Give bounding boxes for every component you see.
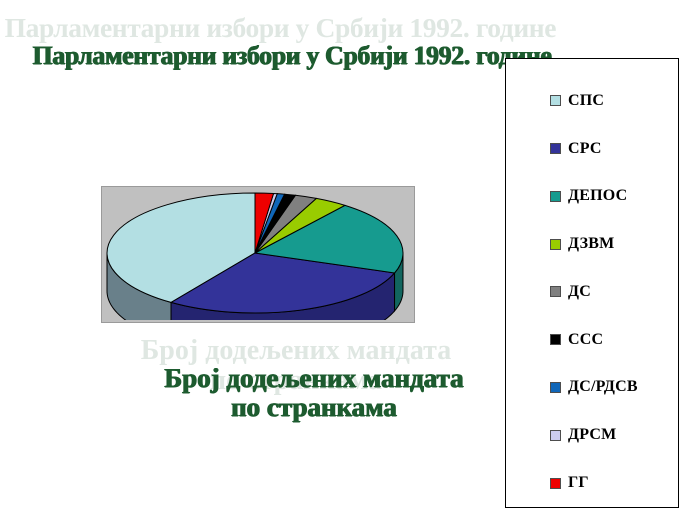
legend-color-swatch <box>550 143 561 154</box>
legend-item-label: СПС <box>568 92 604 110</box>
chart-caption-text: Број додељених мандата по странкама <box>104 364 524 422</box>
legend-item[interactable]: ДЗВМ <box>506 227 678 261</box>
legend-item[interactable]: ДЕПОС <box>506 179 678 213</box>
legend-color-swatch <box>550 239 561 250</box>
chart-caption: Број додељених мандата по странкама Број… <box>90 336 510 456</box>
legend-item-label: ГГ <box>568 474 589 492</box>
slide-title-text: Парламентарни избори у Србији 1992. годи… <box>33 42 552 70</box>
legend-item-label: ССС <box>568 331 603 349</box>
legend-color-swatch <box>550 430 561 441</box>
legend-item[interactable]: ССС <box>506 323 678 357</box>
pie-chart-plot-area[interactable] <box>101 186 415 323</box>
chart-legend[interactable]: СПССРСДЕПОСДЗВМДССССДС/РДСВДРСМГГ <box>505 58 679 508</box>
legend-color-swatch <box>550 286 561 297</box>
legend-item[interactable]: СПС <box>506 84 678 118</box>
legend-color-swatch <box>550 382 561 393</box>
legend-color-swatch <box>550 191 561 202</box>
legend-item-label: ДЕПОС <box>568 187 627 205</box>
legend-item[interactable]: ДС <box>506 275 678 309</box>
pie-top-faces[interactable] <box>107 193 403 313</box>
slide-title-shadow: Парламентарни избори у Србији 1992. годи… <box>5 14 556 43</box>
pie-chart-3d[interactable] <box>102 187 412 320</box>
legend-item[interactable]: ДС/РДСВ <box>506 370 678 404</box>
legend-item-label: ДРСМ <box>568 426 616 444</box>
legend-color-swatch <box>550 95 561 106</box>
legend-item-label: СРС <box>568 140 602 158</box>
legend-item-label: ДС <box>568 283 591 301</box>
legend-item-label: ДС/РДСВ <box>568 378 638 396</box>
legend-item[interactable]: ГГ <box>506 466 678 500</box>
slide-title: Парламентарни избори у Србији 1992. годи… <box>12 14 492 76</box>
legend-item[interactable]: ДРСМ <box>506 418 678 452</box>
legend-color-swatch <box>550 478 561 489</box>
legend-color-swatch <box>550 334 561 345</box>
legend-item-label: ДЗВМ <box>568 235 614 253</box>
legend-item[interactable]: СРС <box>506 132 678 166</box>
